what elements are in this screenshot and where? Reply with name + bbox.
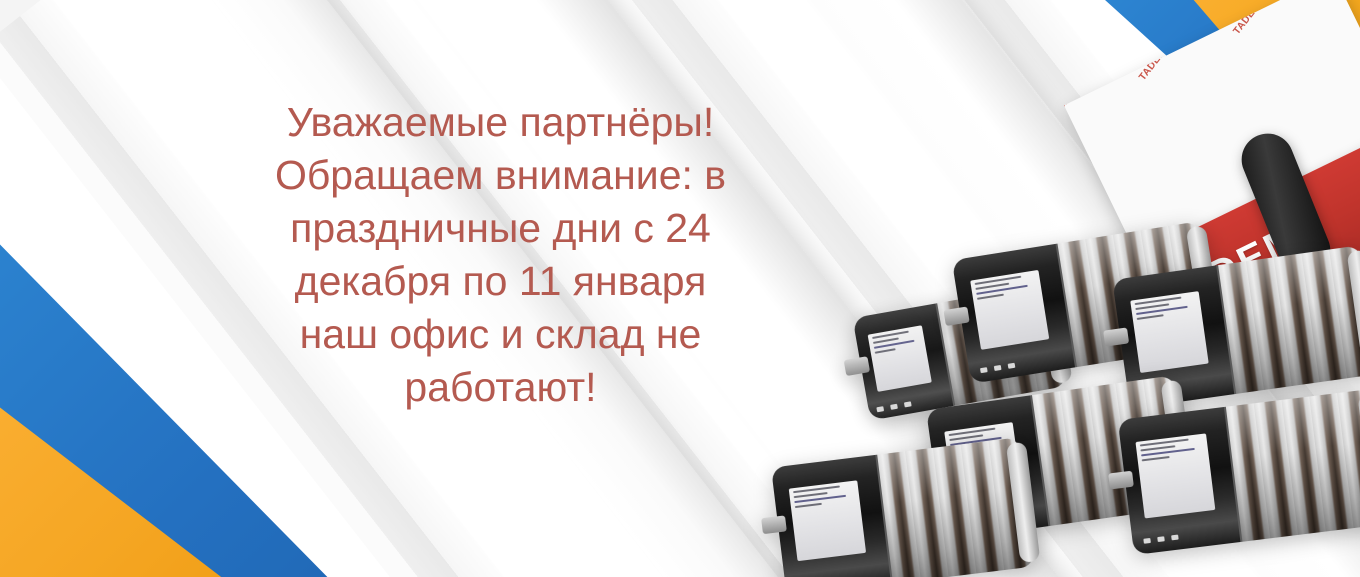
- alternator-label: [788, 481, 866, 562]
- box-pattern-label: TADEM: [1064, 67, 1094, 155]
- notice-line: работают!: [228, 361, 773, 414]
- notice-line: декабря по 11 января: [228, 255, 773, 308]
- notice-line: Обращаем внимание: в: [228, 149, 773, 202]
- box-pattern-label: TADEM: [1116, 21, 1188, 109]
- alternator-label: [970, 269, 1049, 349]
- alternator-terminals: [877, 401, 912, 412]
- box-pattern-label: TADEM: [1103, 0, 1175, 82]
- box-pattern-label: TADEM: [1064, 40, 1081, 128]
- notice-line: праздничные дни с 24: [228, 202, 773, 255]
- alternator-label: [867, 325, 932, 392]
- alternator-label: [1136, 434, 1215, 518]
- alternator-terminals: [980, 363, 1015, 373]
- box-pattern-label: TADEM: [1306, 0, 1360, 17]
- alternator-pulley: [1108, 470, 1134, 489]
- box-pattern-label: TADEM: [1299, 0, 1360, 3]
- notice-line: Уважаемые партнёры!: [228, 96, 773, 149]
- notice-message: Уважаемые партнёры! Обращаем внимание: в…: [228, 96, 773, 414]
- alternator-terminals: [1143, 535, 1178, 544]
- notice-line: наш офис и склад не: [228, 308, 773, 361]
- box-pattern-label: TADEM: [1064, 54, 1087, 142]
- product-photo-cluster: TADEM TADEM TADEM TADEM TADEM TADEM TADE…: [740, 0, 1360, 577]
- alternator-unit: [771, 437, 1035, 577]
- alternator-label: [1130, 292, 1209, 374]
- promo-banner: TADEM TADEM TADEM TADEM TADEM TADEM TADE…: [0, 0, 1360, 577]
